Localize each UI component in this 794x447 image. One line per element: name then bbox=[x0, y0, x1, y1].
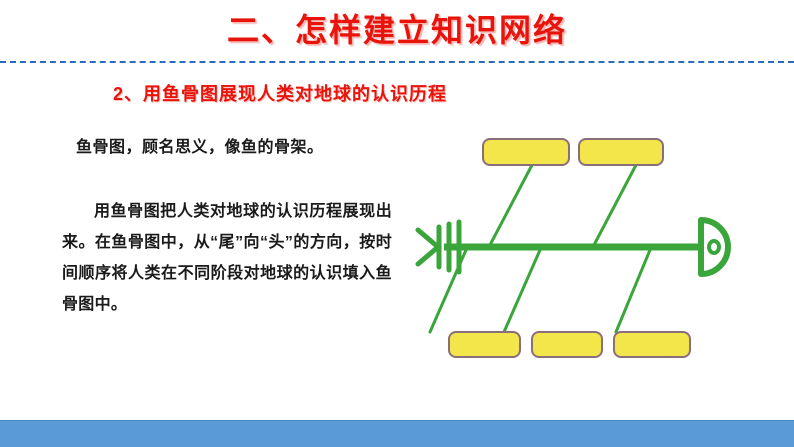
fish-head-icon bbox=[701, 220, 728, 274]
bone-top-1 bbox=[490, 165, 532, 245]
bottom-box-3[interactable] bbox=[614, 332, 690, 357]
top-box-1[interactable] bbox=[483, 139, 569, 165]
bone-top-2 bbox=[594, 165, 636, 245]
slide-root: 二、怎样建立知识网络 2、用鱼骨图展现人类对地球的认识历程 鱼骨图，顾名思义，像… bbox=[0, 0, 794, 447]
body-paragraph: 用鱼骨图把人类对地球的认识历程展现出来。在鱼骨图中，从“尾”向“头”的方向，按时… bbox=[62, 196, 392, 320]
page-title: 二、怎样建立知识网络 bbox=[0, 8, 794, 52]
top-box-2[interactable] bbox=[579, 139, 663, 165]
bottom-box-1[interactable] bbox=[449, 332, 520, 357]
bottom-box-2[interactable] bbox=[532, 332, 602, 357]
bone-bottom-3 bbox=[616, 250, 650, 332]
body-text-column: 鱼骨图，顾名思义，像鱼的骨架。 用鱼骨图把人类对地球的认识历程展现出来。在鱼骨图… bbox=[62, 134, 392, 320]
fishbone-svg bbox=[404, 112, 766, 395]
bone-bottom-2 bbox=[504, 250, 540, 332]
top-label-boxes bbox=[483, 139, 663, 165]
lead-sentence: 鱼骨图，顾名思义，像鱼的骨架。 bbox=[62, 134, 392, 162]
fishbone-diagram bbox=[404, 112, 766, 395]
title-divider bbox=[0, 61, 794, 63]
section-subtitle: 2、用鱼骨图展现人类对地球的认识历程 bbox=[0, 81, 560, 107]
footer-bar bbox=[0, 420, 794, 447]
bottom-label-boxes bbox=[449, 332, 690, 357]
